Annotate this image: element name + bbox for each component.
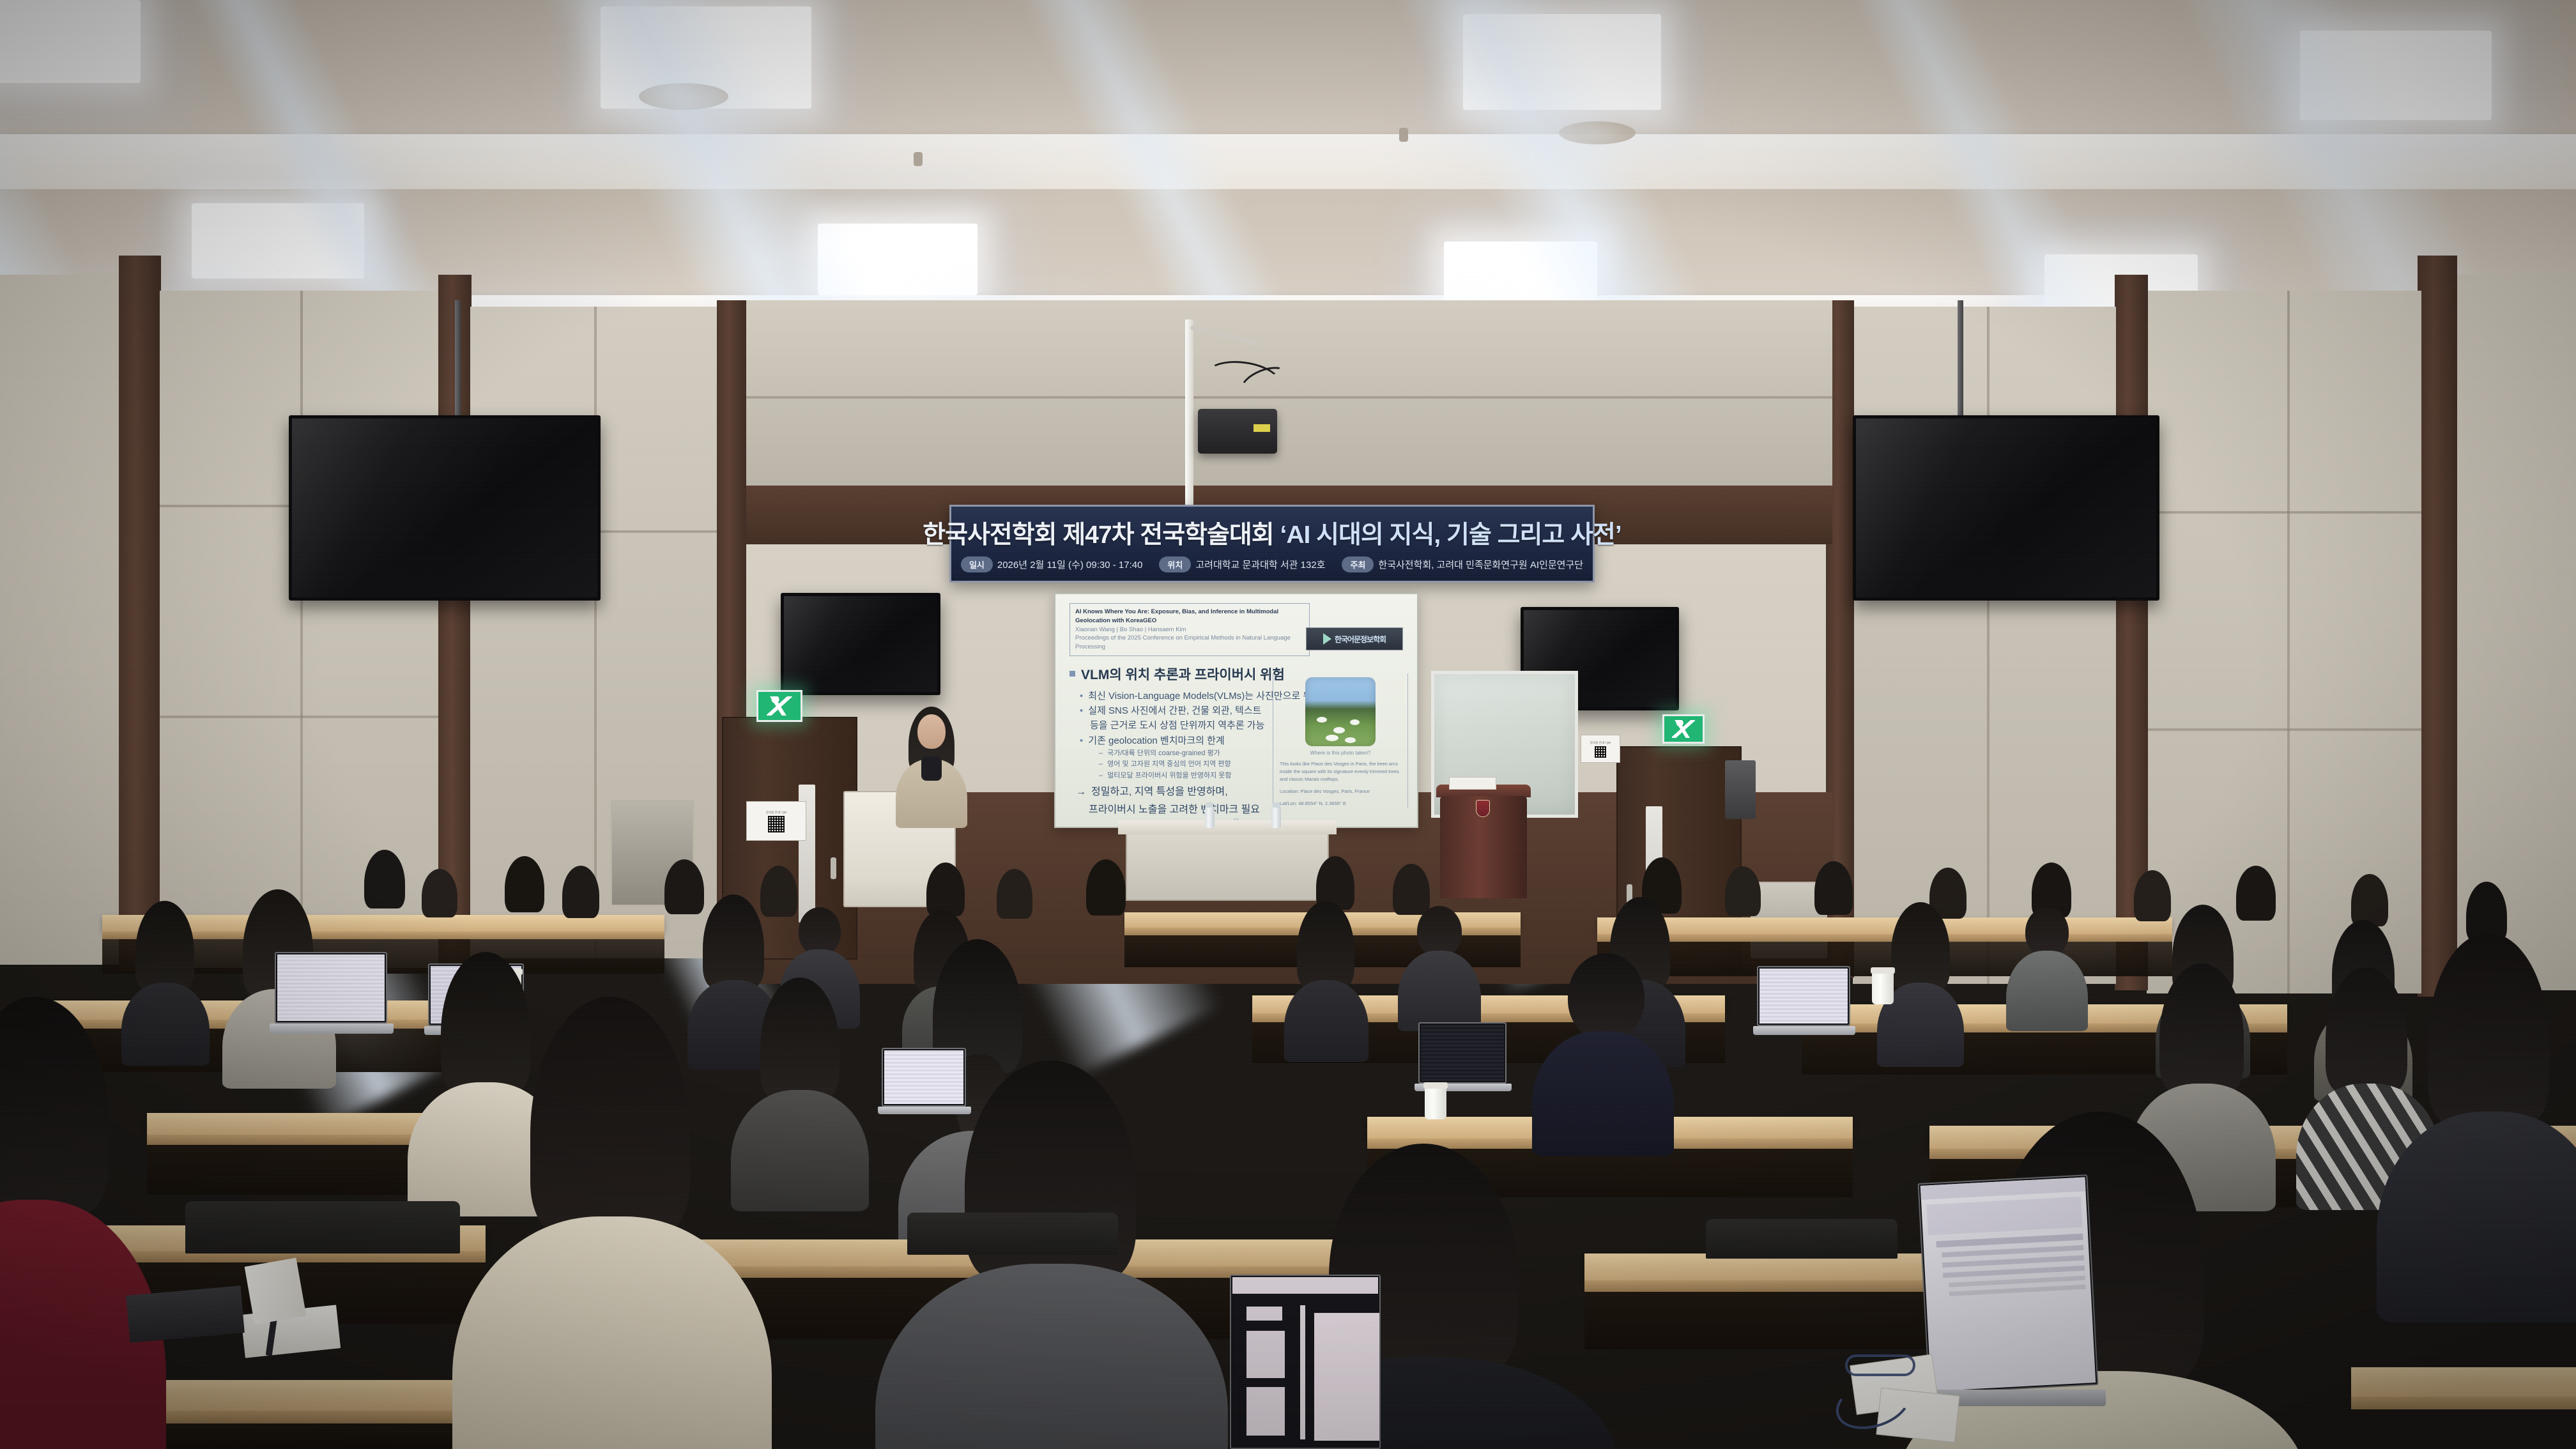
water-bottle[interactable] bbox=[1205, 806, 1215, 828]
bullet-dot-icon: • bbox=[1080, 733, 1083, 748]
ceiling-light-panel bbox=[192, 203, 364, 279]
qr-sign-caption: 강의실 안내 / QR bbox=[766, 810, 786, 814]
presenter-turtleneck bbox=[921, 756, 942, 781]
front-wall-stone bbox=[746, 300, 1832, 486]
slide-conclusion-text: 프라이버시 노출을 고려한 벤치마크 필요 bbox=[1089, 802, 1260, 818]
banner-meta-chip: 위치 bbox=[1159, 556, 1191, 572]
banner-meta-text: 2026년 2월 11일 (수) 09:30 - 17:40 bbox=[997, 558, 1143, 571]
exit-sign-left bbox=[756, 690, 802, 722]
projector-label bbox=[1253, 424, 1270, 432]
exit-sign-right bbox=[1662, 714, 1705, 744]
slide-heading-text: VLM의 위치 추론과 프라이버시 위험 bbox=[1081, 664, 1285, 684]
bullet-dot-icon: • bbox=[1080, 689, 1083, 703]
slide-bullet-text: 등을 근거로 도시 상점 단위까지 역추론 가능 bbox=[1090, 718, 1264, 733]
citation-title: AI Knows Where You Are: Exposure, Bias, … bbox=[1075, 608, 1304, 625]
tablet-case[interactable] bbox=[126, 1285, 245, 1342]
slide-example-photo bbox=[1305, 677, 1376, 746]
coffee-cup-lid bbox=[1423, 1082, 1448, 1089]
wall-column-right bbox=[2418, 256, 2457, 997]
bullet-dot-icon: • bbox=[1080, 703, 1083, 718]
presenter-head bbox=[917, 714, 946, 749]
coffee-cup[interactable] bbox=[1872, 971, 1894, 1004]
water-bottle[interactable] bbox=[1271, 806, 1281, 828]
exit-running-man-icon bbox=[1672, 720, 1695, 738]
banner-title-main: 한국사전학회 제47차 전국학술대회 bbox=[923, 521, 1273, 549]
left-front-monitor bbox=[781, 593, 940, 695]
conference-banner: 한국사전학회 제47차 전국학술대회 ‘AI 시대의 지식, 기술 그리고 사전… bbox=[949, 505, 1595, 583]
banner-title: 한국사전학회 제47차 전국학술대회 ‘AI 시대의 지식, 기술 그리고 사전… bbox=[923, 515, 1621, 551]
banner-meta-chip: 주최 bbox=[1342, 556, 1374, 572]
coffee-cup-lid bbox=[1871, 967, 1895, 974]
door-handle[interactable] bbox=[831, 857, 836, 879]
banner-meta-item: 일시 2026년 2월 11일 (수) 09:30 - 17:40 bbox=[961, 556, 1142, 572]
slide-bullet-text: 기존 geolocation 벤치마크의 한계 bbox=[1088, 733, 1224, 748]
wall-panel-left bbox=[0, 275, 121, 965]
presentation-slide: AI Knows Where You Are: Exposure, Bias, … bbox=[1055, 594, 1417, 827]
right-wall-monitor bbox=[1853, 415, 2159, 601]
qr-code-icon bbox=[1595, 746, 1606, 758]
sprinkler-head bbox=[914, 152, 923, 166]
slide-citation-box: AI Knows Where You Are: Exposure, Bias, … bbox=[1069, 603, 1310, 656]
presenter bbox=[893, 707, 970, 822]
ceiling-vent bbox=[1559, 121, 1636, 144]
qr-code-icon bbox=[768, 816, 785, 832]
coffee-cup[interactable] bbox=[1425, 1086, 1446, 1119]
slide-logo-text: 한국어문정보학회 bbox=[1335, 634, 1386, 645]
bottle-cap bbox=[1206, 802, 1213, 808]
dash-icon: – bbox=[1099, 759, 1103, 770]
dash-icon: – bbox=[1099, 748, 1103, 760]
chair-back bbox=[907, 1213, 1118, 1255]
slide-bullet-text: 실제 SNS 사진에서 간판, 건물 외관, 텍스트 bbox=[1088, 703, 1261, 718]
door-qr-sign: 강의실 안내 / QR bbox=[1581, 735, 1620, 763]
slide-photo-latlon: Lat/Lon: 48.8554° N, 2.3655° E bbox=[1280, 800, 1401, 808]
wall-panel-right bbox=[2453, 275, 2576, 990]
citation-venue: Proceedings of the 2025 Conference on Em… bbox=[1075, 634, 1304, 652]
ceiling-light-panel bbox=[1463, 14, 1661, 110]
slide-photo-location: Location: Place des Vosges, Paris, Franc… bbox=[1280, 788, 1401, 795]
door-qr-sign: 강의실 안내 / QR bbox=[746, 801, 806, 841]
slide-conclusion-text: 정밀하고, 지역 특성을 반영하며, bbox=[1091, 785, 1228, 800]
dash-icon: – bbox=[1099, 770, 1103, 782]
university-crest-icon bbox=[1476, 800, 1490, 817]
ceiling-vent bbox=[639, 83, 728, 110]
tv-mount-pole-right bbox=[1958, 300, 1963, 428]
banner-meta-row: 일시 2026년 2월 11일 (수) 09:30 - 17:40 위치 고려대… bbox=[961, 556, 1583, 572]
banner-meta-item: 위치 고려대학교 문과대학 서관 132호 bbox=[1159, 556, 1325, 572]
slide-photo-caption: Where is this photo taken? bbox=[1280, 750, 1401, 756]
slide-photo-answer: This looks like Place des Vosges in Pari… bbox=[1280, 760, 1401, 783]
bottle-cap bbox=[1273, 802, 1280, 808]
citation-authors: Xiaonan Wang | Bo Shao | Hansaem Kim bbox=[1075, 625, 1304, 634]
tv-mount-pole-left bbox=[455, 300, 461, 428]
eyeglasses-icon bbox=[1845, 1354, 1915, 1376]
square-bullet-icon bbox=[1069, 671, 1075, 677]
chair-back bbox=[1706, 1219, 1897, 1259]
ceiling-light-panel bbox=[2300, 31, 2492, 120]
qr-sign-caption: 강의실 안내 / QR bbox=[1590, 740, 1611, 744]
slide-society-logo: 한국어문정보학회 bbox=[1306, 627, 1403, 650]
lectern[interactable] bbox=[1440, 796, 1527, 898]
slide-sub-bullet-text: 국가/대륙 단위의 coarse-grained 평가 bbox=[1107, 748, 1220, 760]
lectern-name-card bbox=[1449, 777, 1496, 790]
arrow-icon: → bbox=[1076, 785, 1086, 800]
banner-title-quoted: ‘AI 시대의 지식, 기술 그리고 사전’ bbox=[1280, 521, 1621, 549]
head-table bbox=[1126, 829, 1329, 901]
banner-meta-text: 고려대학교 문과대학 서관 132호 bbox=[1195, 558, 1325, 571]
ceiling-light-panel bbox=[818, 224, 977, 295]
projection-screen: AI Knows Where You Are: Exposure, Bias, … bbox=[1054, 593, 1418, 828]
wall-speaker bbox=[1725, 760, 1756, 819]
wall-panel-right-3 bbox=[1853, 307, 2116, 984]
sprinkler-head bbox=[1399, 128, 1408, 142]
open-booklet[interactable] bbox=[245, 1258, 307, 1325]
banner-meta-item: 주최 한국사전학회, 고려대 민족문화연구원 AI인문연구단 bbox=[1342, 556, 1583, 572]
banner-meta-chip: 일시 bbox=[961, 556, 993, 572]
exit-running-man-icon bbox=[767, 696, 792, 716]
head-table-top bbox=[1118, 820, 1337, 834]
ceiling-projector bbox=[1198, 409, 1277, 454]
projector-pole bbox=[1185, 319, 1193, 530]
slide-sub-bullet-text: 멀티모달 프라이버시 위험을 반영하지 못함 bbox=[1107, 770, 1231, 782]
logo-mark-icon bbox=[1323, 633, 1331, 645]
banner-meta-text: 한국사전학회, 고려대 민족문화연구원 AI인문연구단 bbox=[1378, 558, 1583, 571]
chair-back bbox=[185, 1201, 460, 1253]
wall-column-left bbox=[119, 256, 161, 971]
ceiling-light-panel bbox=[0, 0, 141, 83]
lecture-hall-photo: 한국사전학회 제47차 전국학술대회 ‘AI 시대의 지식, 기술 그리고 사전… bbox=[0, 0, 2576, 1449]
slide-sub-bullet-text: 영어 및 고자원 지역 중심의 언어 지역 편향 bbox=[1107, 759, 1230, 770]
slide-side-panel: Where is this photo taken? This looks li… bbox=[1273, 673, 1408, 808]
left-wall-monitor bbox=[289, 415, 601, 601]
